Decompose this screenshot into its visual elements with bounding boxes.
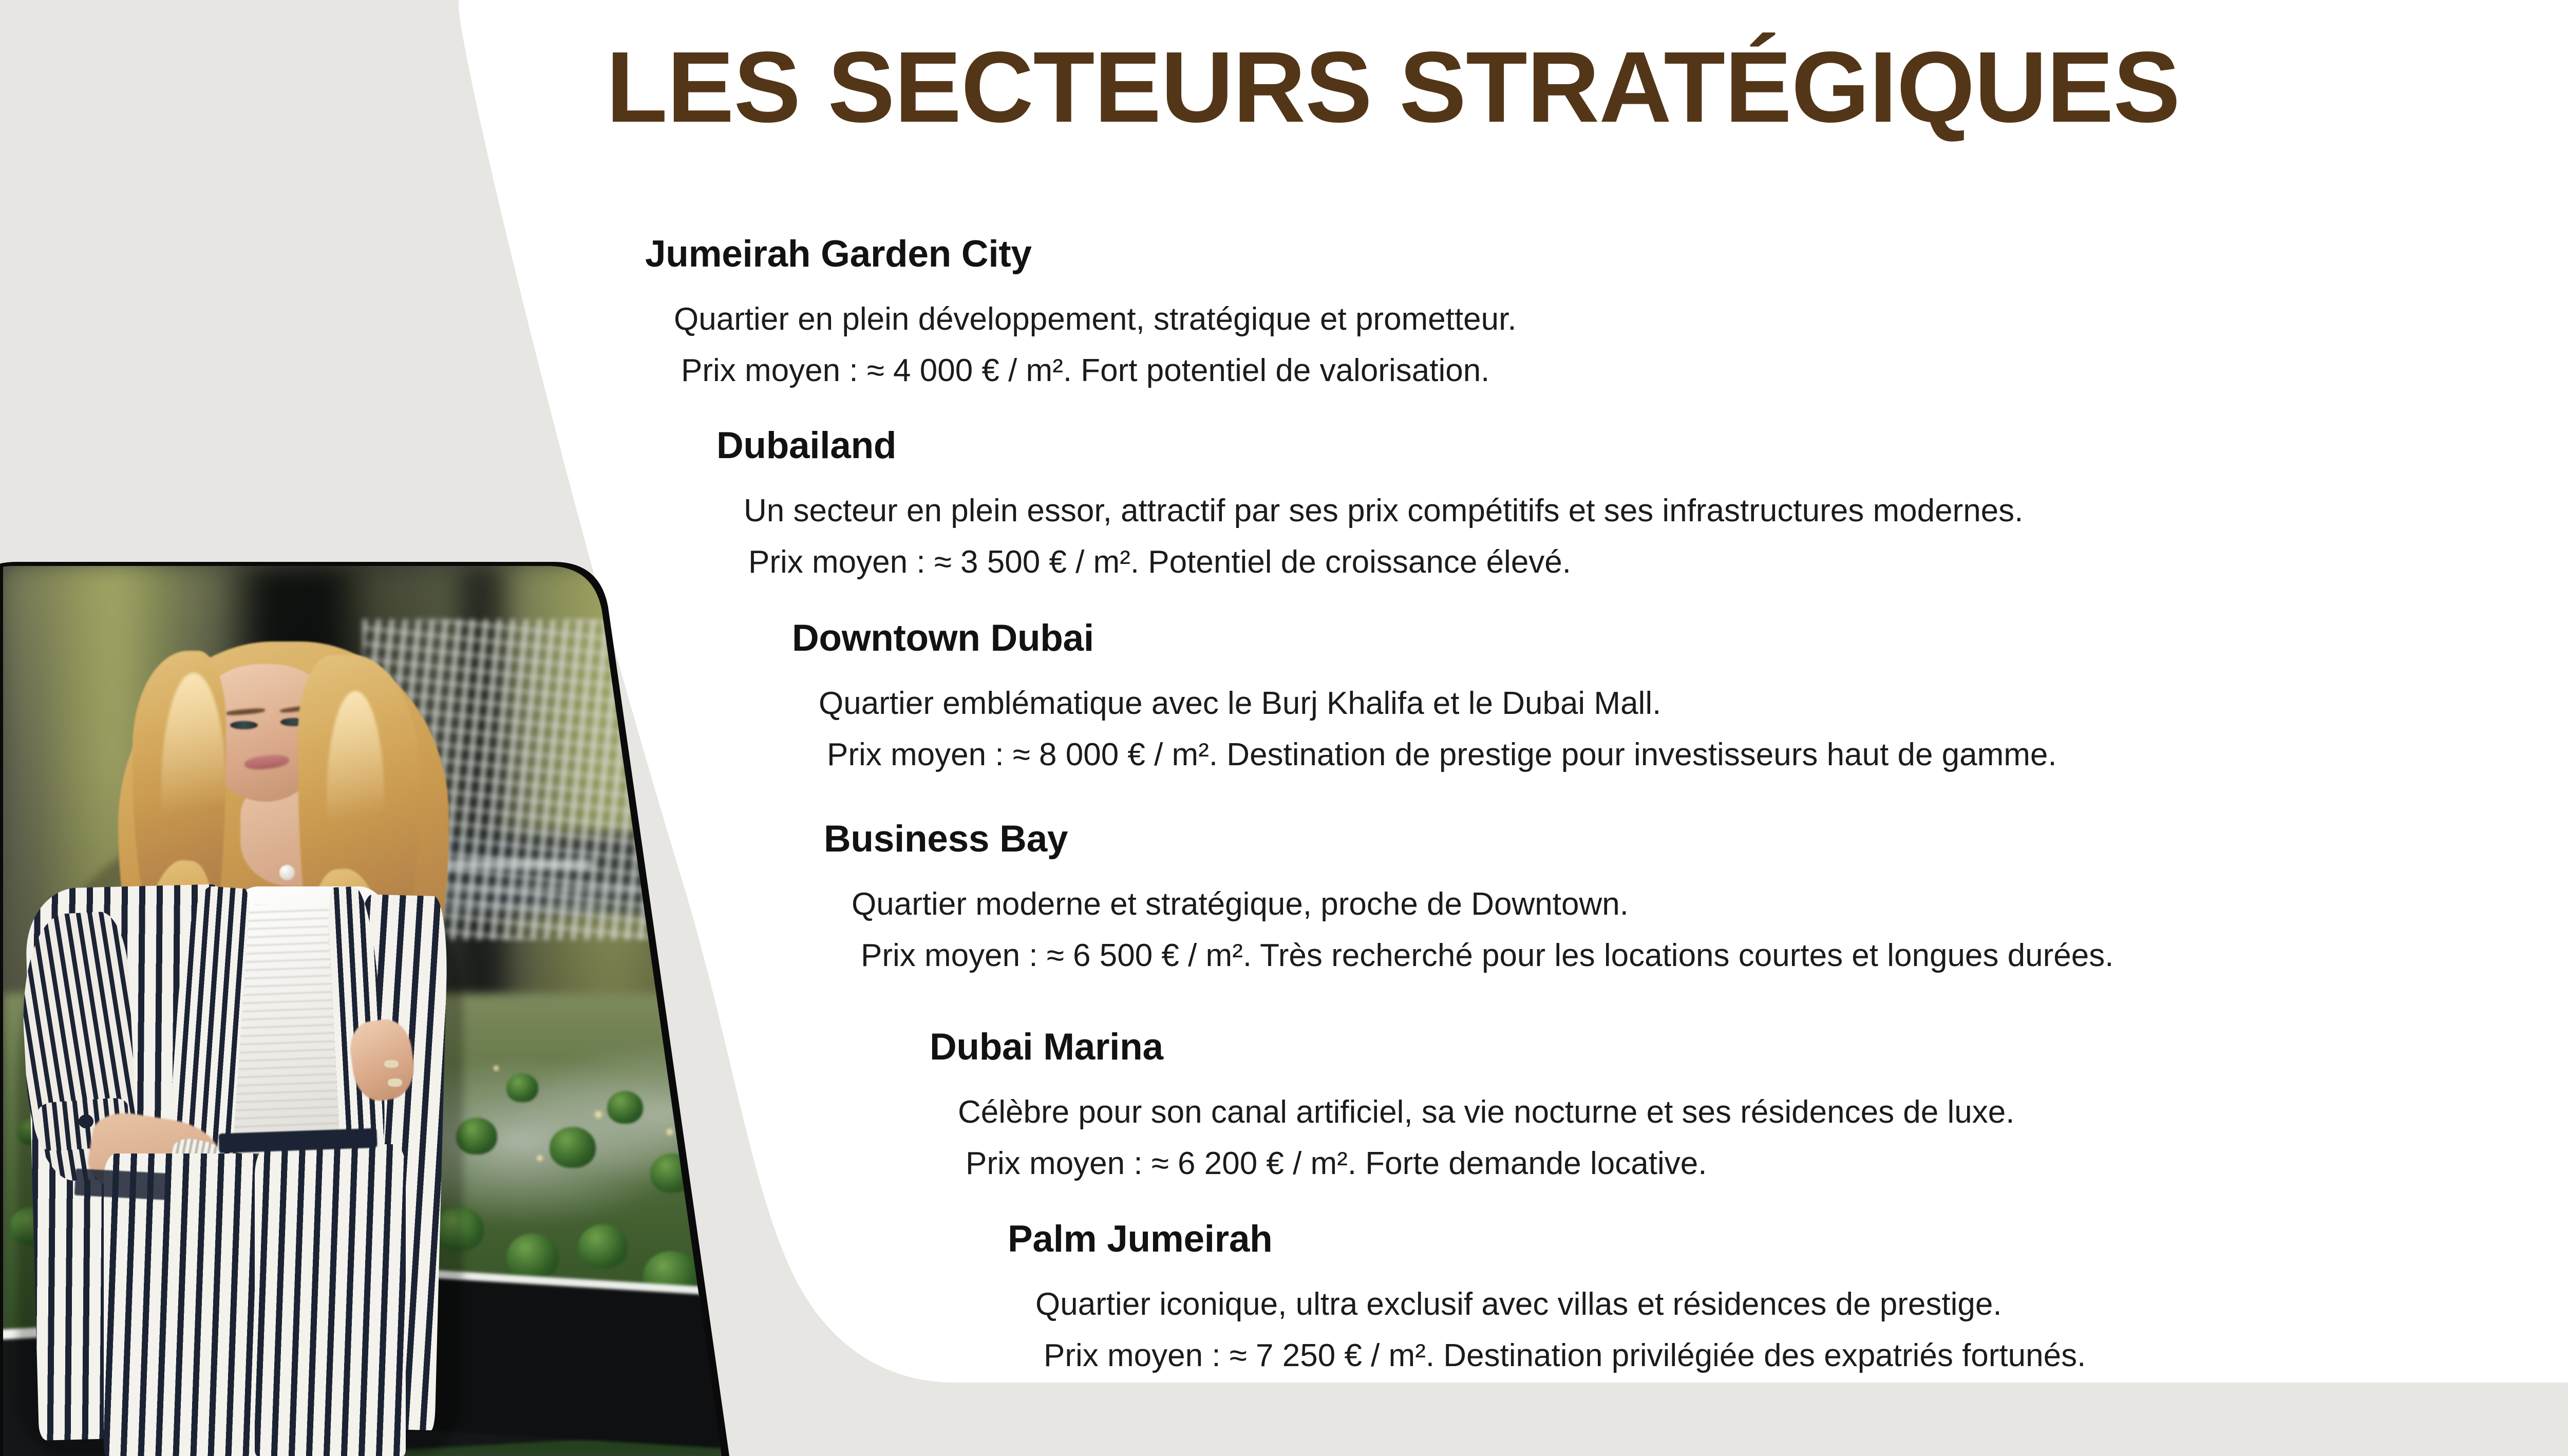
section-description: Quartier moderne et stratégique, proche …	[852, 885, 2113, 923]
section-description: Quartier emblématique avec le Burj Khali…	[819, 685, 2057, 722]
section-downtown-dubai: Downtown Dubai Quartier emblématique ave…	[792, 618, 2057, 774]
figure-trousers-right	[255, 1144, 406, 1456]
section-heading: Dubailand	[716, 425, 2023, 466]
section-business-bay: Business Bay Quartier moderne et stratég…	[824, 819, 2113, 975]
photo-tree	[506, 1234, 559, 1280]
section-price: Prix moyen : ≈ 6 500 € / m². Très recher…	[861, 937, 2113, 974]
slide-root: LES SECTEURS STRATÉGIQUES Jumeirah Garde…	[0, 0, 2568, 1456]
section-description: Un secteur en plein essor, attractif par…	[744, 492, 2023, 530]
photo-light	[535, 1154, 544, 1163]
section-heading: Palm Jumeirah	[1008, 1219, 2086, 1260]
section-jumeirah-garden-city: Jumeirah Garden City Quartier en plein d…	[645, 234, 1517, 390]
figure-ring	[384, 1060, 399, 1068]
section-palm-jumeirah: Palm Jumeirah Quartier iconique, ultra e…	[1008, 1219, 2086, 1375]
photo-border-frame	[0, 560, 729, 1456]
section-price: Prix moyen : ≈ 3 500 € / m². Potentiel d…	[748, 543, 2023, 581]
section-price: Prix moyen : ≈ 6 200 € / m². Forte deman…	[966, 1145, 2014, 1182]
figure-trousers-left	[104, 1154, 262, 1456]
section-heading: Business Bay	[824, 819, 2113, 860]
photo-tree	[607, 1091, 643, 1124]
section-price: Prix moyen : ≈ 7 250 € / m². Destination…	[1044, 1337, 2086, 1374]
photo-light	[593, 1109, 604, 1120]
figure-eye	[230, 721, 257, 729]
page-title: LES SECTEURS STRATÉGIQUES	[606, 37, 2404, 138]
figure-ring	[388, 1079, 402, 1087]
photo-tree	[650, 1154, 693, 1193]
photo-tree	[506, 1073, 538, 1102]
section-description: Quartier en plein développement, stratég…	[674, 300, 1517, 338]
photo-tree	[550, 1127, 596, 1168]
figure-pocket-flap	[74, 1169, 169, 1200]
section-price: Prix moyen : ≈ 8 000 € / m². Destination…	[827, 736, 2057, 773]
section-heading: Downtown Dubai	[792, 618, 2057, 659]
section-dubailand: Dubailand Un secteur en plein essor, att…	[716, 425, 2023, 581]
section-heading: Jumeirah Garden City	[645, 234, 1517, 275]
section-heading: Dubai Marina	[930, 1027, 2014, 1068]
section-description: Quartier iconique, ultra exclusif avec v…	[1035, 1285, 2086, 1323]
section-dubai-marina: Dubai Marina Célèbre pour son canal arti…	[930, 1027, 2014, 1183]
photo-tree	[578, 1224, 628, 1269]
section-price: Prix moyen : ≈ 4 000 € / m². Fort potent…	[681, 352, 1517, 389]
section-description: Célèbre pour son canal artificiel, sa vi…	[958, 1093, 2014, 1131]
figure-necklace	[279, 865, 295, 880]
photo-image	[3, 566, 722, 1456]
photo-light	[665, 1127, 675, 1137]
presenter-photo	[0, 560, 729, 1456]
